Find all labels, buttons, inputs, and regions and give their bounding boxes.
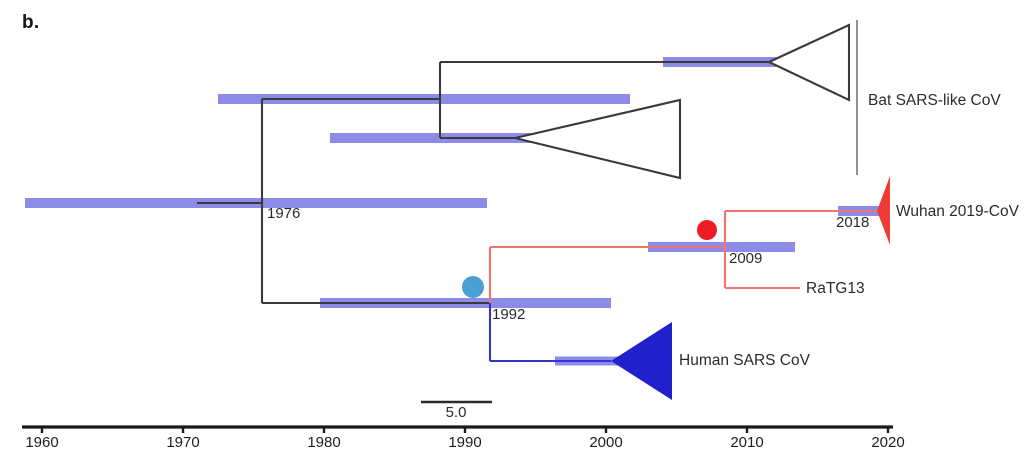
bat-triangle-top (769, 25, 849, 100)
bat-triangle-lower (515, 100, 680, 178)
scale-bar-label: 5.0 (446, 404, 467, 421)
blue-node-dot (462, 276, 484, 298)
axis-tick-label-1980: 1980 (307, 434, 340, 451)
red-node-dot (697, 220, 717, 240)
node-label-1976: 1976 (267, 205, 300, 222)
node-label-1992: 1992 (492, 306, 525, 323)
clade-label-human-sars-cov: Human SARS CoV (679, 352, 810, 370)
axis-tick-label-1990: 1990 (448, 434, 481, 451)
axis-tick-label-2010: 2010 (730, 434, 763, 451)
axis-tick-label-2000: 2000 (589, 434, 622, 451)
clade-label-bat-sars-like-cov: Bat SARS-like CoV (868, 92, 1001, 110)
tree-canvas (0, 0, 1024, 472)
axis-tick-label-1960: 1960 (25, 434, 58, 451)
axis-tick-label-1970: 1970 (166, 434, 199, 451)
clade-label-ratg13: RaTG13 (806, 280, 865, 298)
phylogenetic-tree-figure: b. (0, 0, 1024, 472)
time-axis (22, 427, 893, 433)
human-sars-triangle (611, 322, 672, 400)
wuhan-2019-cov-triangle (877, 176, 890, 245)
axis-tick-label-2020: 2020 (871, 434, 904, 451)
clade-label-wuhan-2019-cov: Wuhan 2019-CoV (896, 203, 1019, 221)
node-label-2018: 2018 (836, 214, 869, 231)
node-label-2009: 2009 (729, 250, 762, 267)
